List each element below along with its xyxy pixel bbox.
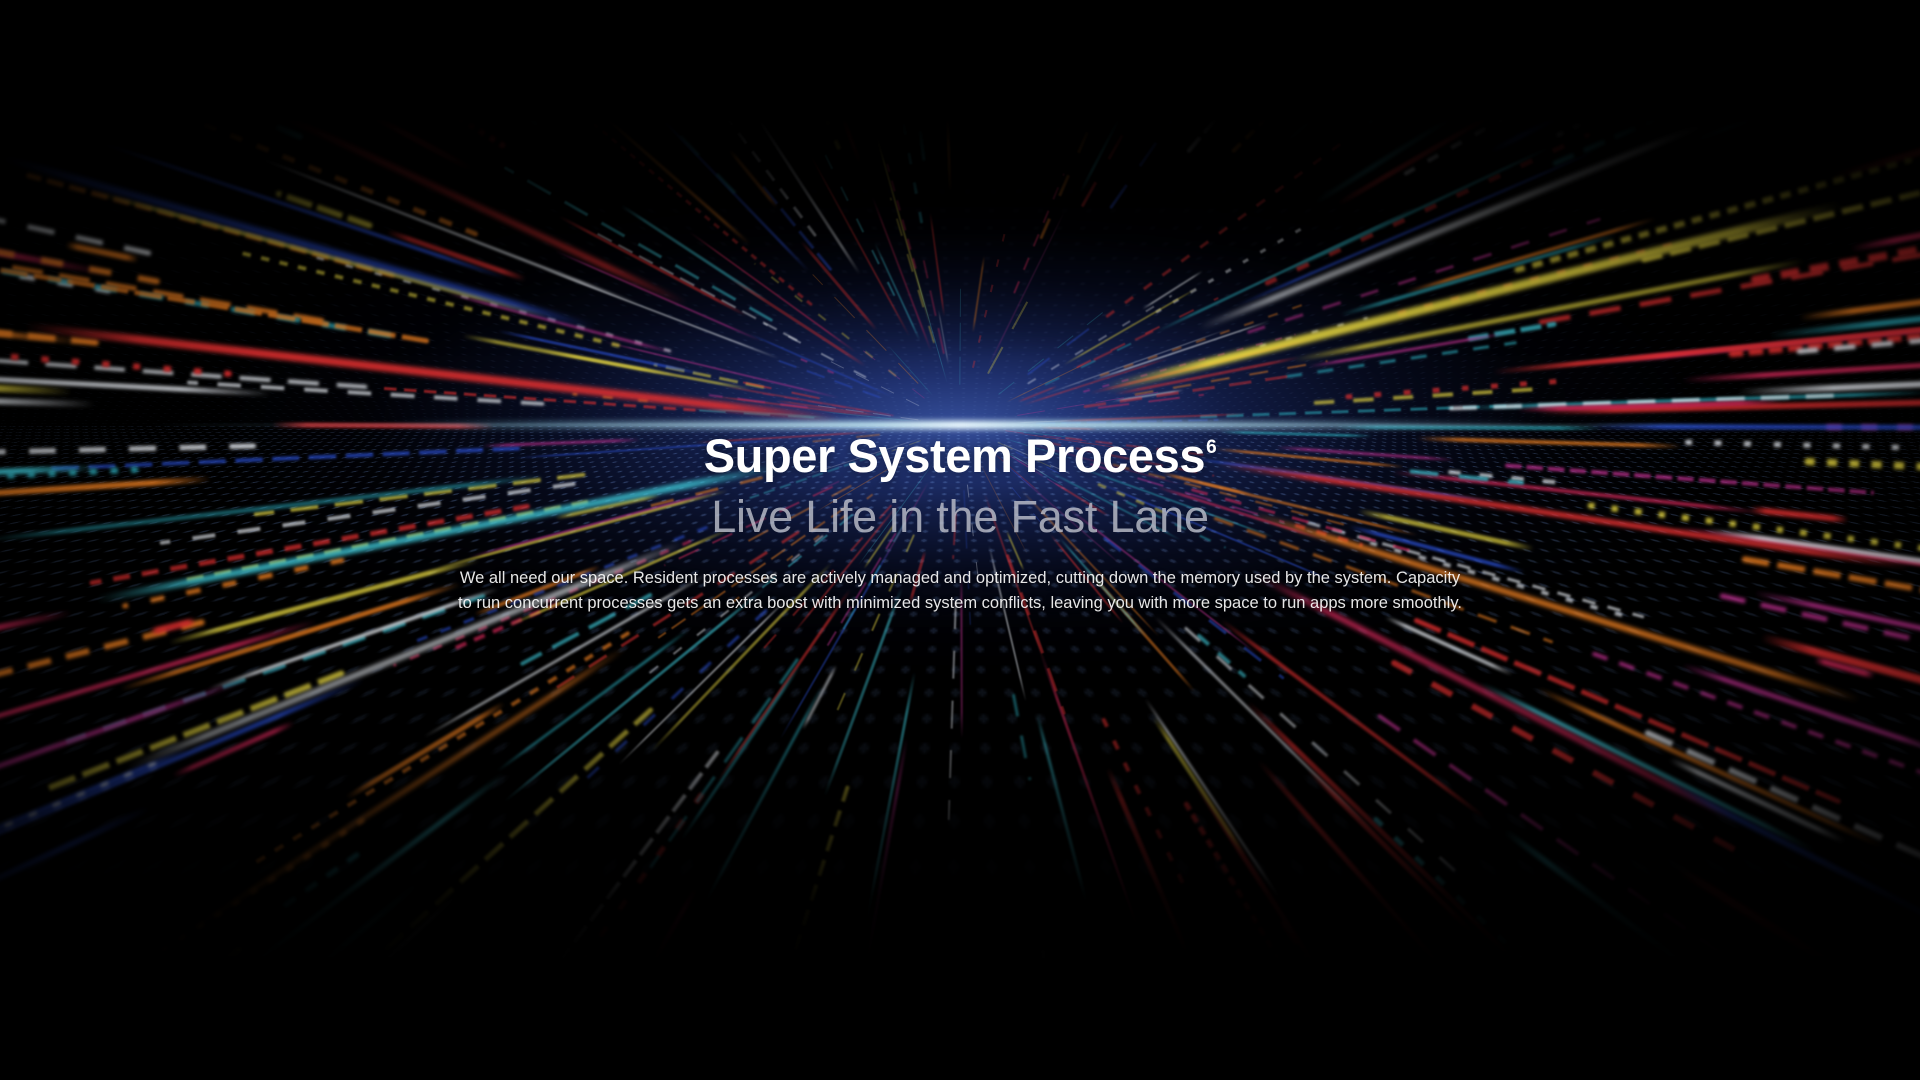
light-streak [1493,318,1920,375]
light-streak [0,619,317,777]
light-streak [1203,0,1400,126]
light-streak [987,294,1032,374]
light-streak [1013,173,1065,294]
light-streak [988,212,1065,366]
light-streak [1682,663,1920,754]
light-streak [1337,23,1646,206]
light-streak [1093,320,1174,361]
light-streak [1676,866,1920,1075]
light-streak [1079,56,1153,193]
light-streak [41,670,346,794]
light-streak [0,330,232,377]
light-streak [1064,287,1198,366]
light-streak [875,133,932,326]
light-streak [581,608,768,783]
light-streak [0,240,325,323]
light-streak [682,408,815,419]
light-streak [1537,687,1885,850]
light-streak [1040,654,1141,934]
light-streak [1236,149,1598,307]
light-streak [460,750,720,1080]
light-streak [776,400,881,417]
light-streak [763,322,867,378]
light-streak [748,103,861,274]
light-streak [1039,0,1150,239]
light-streak [0,0,273,32]
light-streak [1041,949,1124,1080]
light-streak [107,773,506,1075]
light-streak [1018,385,1057,402]
light-streak [1258,25,1331,103]
light-streak [739,785,850,1080]
light-streak [547,0,736,194]
light-streak [591,230,798,342]
hero-body-line-1: We all need our space. Resident processe… [460,569,1240,587]
light-streak [821,411,915,422]
light-streak [1340,233,1617,316]
light-streak [0,118,152,256]
light-streak [1682,346,1920,383]
light-streak [573,392,649,402]
light-streak [0,363,72,395]
light-streak [809,154,910,337]
light-streak [590,104,750,245]
light-streak [383,386,696,411]
light-streak [0,805,151,1039]
light-streak-primary [1293,258,1804,362]
light-streak [824,587,903,796]
light-streak [729,277,865,367]
hero-banner: Super System Process6 Live Life in the F… [0,0,1920,1080]
light-streak [1467,321,1557,341]
light-streak [1083,375,1287,408]
light-streak [0,280,84,345]
light-streak [708,408,828,419]
light-streak [609,0,817,237]
light-streak [1048,329,1226,394]
light-streak [593,123,813,307]
light-streak [613,887,699,1031]
light-streak [504,166,773,322]
light-streak [1367,0,1721,124]
light-streak [1760,634,1920,726]
light-streak [1397,242,1676,317]
light-streak [1390,659,1751,861]
halftone-dot-floor [0,0,1920,425]
light-streak [886,164,917,270]
light-streak [1831,0,1920,180]
light-streak [833,0,893,92]
light-streak [0,0,304,140]
light-streak [1403,0,1828,176]
light-streak-primary [0,153,595,331]
light-streak [792,355,834,374]
light-streak [1307,768,1478,938]
light-streak [1142,270,1203,310]
light-streak [377,0,547,67]
light-streak [1083,333,1296,392]
light-streak [1098,394,1204,409]
light-streak [1537,397,1920,414]
light-streak [1377,713,1748,972]
light-streak [929,212,945,317]
light-streak [1005,0,1029,45]
light-streak [702,685,824,908]
light-streak [1641,130,1920,263]
light-streak [1345,379,1561,400]
light-streak [1649,0,1920,21]
light-streak [874,243,920,341]
light-streak [1023,357,1168,405]
light-streak [1456,0,1654,92]
light-streak [555,250,760,341]
light-streak [959,288,961,385]
light-streak [1186,0,1333,153]
light-streak [275,851,361,913]
light-streak [913,266,947,382]
light-streak [261,157,641,306]
light-streak [1651,968,1914,1080]
light-streak [947,601,957,820]
light-streak [241,251,620,348]
light-streak [1264,132,1591,286]
light-streak [1038,423,1081,425]
light-streak [1535,0,1912,24]
light-streak [776,359,880,398]
light-streak [362,0,539,126]
light-streak [1012,694,1032,781]
light-streak [1106,767,1196,968]
light-streak [1081,0,1225,207]
light-streak [503,587,765,802]
light-streak [1728,297,1920,358]
light-streak [1678,0,1920,50]
light-streak [758,181,833,272]
light-streak [1109,92,1192,209]
light-streak [463,334,675,377]
light-streak [1552,0,1920,166]
light-streak [0,619,205,735]
light-streak [542,349,751,391]
light-streak [275,190,374,229]
light-streak [1658,776,1920,946]
light-streak [860,348,925,399]
hero-subheadline: Live Life in the Fast Lane [0,491,1920,542]
light-streak [1027,295,1172,385]
light-streak [879,0,925,161]
light-streak [0,817,366,1069]
light-streak [772,0,863,165]
light-streak [0,0,195,107]
light-streak [1598,1040,1920,1080]
light-streak [750,334,892,398]
light-streak [536,0,710,125]
light-streak [339,707,654,992]
light-streak [938,0,951,192]
light-streak [1616,0,1920,83]
light-streak [1488,51,1683,155]
light-streak [1231,0,1509,153]
light-streak [1017,392,1158,416]
light-streak [99,140,507,280]
light-streak [1183,801,1387,1080]
light-streak [386,229,525,281]
light-streak [871,197,931,351]
light-streak [448,293,675,355]
light-streak [1203,1017,1290,1080]
light-streak [762,393,893,416]
hero-body-line-3: leaving you with more space to run apps … [1050,594,1461,612]
light-streak [186,380,544,405]
light-streak [500,0,672,118]
hero-content: Super System Process6 Live Life in the F… [0,430,1920,616]
light-streak [711,395,872,417]
light-streak [1246,701,1538,983]
light-streak [1282,0,1550,146]
light-streak [1057,413,1245,422]
light-streak [0,296,99,346]
light-streak [1587,313,1920,366]
light-streak [1405,216,1656,294]
tunnel-core-glow [110,45,1810,805]
light-streak [680,664,802,841]
light-streak [1286,341,1516,378]
light-streak [0,761,158,1018]
light-streak [731,378,821,399]
light-streak [889,347,933,396]
light-streak [1799,272,1920,320]
light-streak [1184,626,1470,884]
light-streak [0,380,95,407]
light-streak [1308,332,1503,368]
light-streak [254,631,631,865]
light-streak [1105,140,1344,318]
light-streak [848,738,908,1062]
light-streak [1592,651,1920,808]
light-streak [0,202,111,293]
light-streak [1251,0,1372,37]
light-streak [1027,319,1101,375]
light-streak [0,256,429,343]
light-streak [1099,982,1233,1080]
light-streak [496,628,689,772]
light-streak [1006,361,1089,403]
light-streak [0,609,72,729]
light-streak [0,257,392,338]
light-streak [1143,0,1354,72]
light-streak [800,241,877,331]
light-streak [1044,338,1141,386]
light-streak [923,261,945,355]
light-streak [759,1074,807,1080]
light-streak [445,0,569,20]
light-streak [754,263,897,377]
bottom-light-band [0,952,1920,978]
light-streak [1314,387,1540,405]
light-streak [92,190,549,319]
light-streak [0,362,270,396]
light-streak [1192,780,1404,1080]
light-streak [66,242,139,263]
light-streak [1449,393,1843,411]
light-streak [649,105,810,272]
light-streak [0,678,246,880]
light-streak [1077,0,1168,70]
light-streak [0,880,421,1080]
light-streak-primary [188,645,627,932]
light-streak [1113,389,1184,402]
light-streak [1401,0,1585,19]
light-streak [1503,828,1781,1038]
light-streak [689,0,841,150]
light-streak [1200,404,1516,418]
light-streak [0,142,108,276]
light-streak [1101,717,1185,885]
light-streak [1052,0,1173,144]
light-streak [172,720,295,778]
light-streak [1400,1059,1466,1080]
light-streak [1114,356,1299,396]
light-streak [954,0,959,141]
light-streak [316,0,371,20]
light-streak [1157,206,1418,332]
light-streak [826,359,919,406]
light-streak [1247,217,1601,333]
light-streak [1514,156,1914,272]
light-streak [1432,1019,1678,1080]
light-streak [649,658,799,869]
light-streak [1017,420,1072,423]
hero-headline: Super System Process6 [0,430,1920,483]
light-streak [1814,657,1876,679]
light-streak [950,0,956,83]
light-streak [1280,920,1539,1080]
light-streak-primary [1103,201,1843,394]
hero-headline-footnote-marker: 6 [1206,437,1216,458]
light-streak [1035,713,1088,905]
light-streak [1850,193,1920,253]
light-streak [1644,729,1920,977]
light-streak [708,394,808,408]
light-streak [1099,302,1309,377]
light-streak [938,310,949,364]
light-streak [1302,9,1392,96]
light-streak [689,231,856,352]
light-streak [272,423,494,429]
light-streak [725,386,895,417]
light-streak [1372,816,1543,979]
light-streak [1075,0,1187,36]
light-streak [0,746,191,874]
light-streak [1259,317,1368,348]
light-streak [26,173,396,278]
light-streak [972,256,985,332]
light-streak [1076,297,1218,369]
light-streak [1197,633,1247,678]
light-streak [282,5,507,149]
light-streak-primary [106,31,689,307]
light-streak [5,0,474,172]
light-streak [1155,222,1311,313]
light-streak [1462,391,1920,411]
light-streak [1538,227,1920,325]
light-streak [1154,616,1375,835]
light-streak [1281,145,1553,275]
light-streak [1692,17,1920,144]
light-streak [1669,757,1847,844]
light-streak [1152,716,1246,856]
light-streak [802,665,838,730]
light-streak [149,617,196,635]
light-streak [1413,617,1841,804]
light-streak [50,985,423,1080]
light-streak [865,672,916,921]
light-streak-primary [1314,0,1723,204]
light-streak [1220,619,1486,819]
light-streak-primary [25,323,841,424]
light-streak [1751,164,1920,284]
light-streak [1036,419,1219,424]
light-streak [823,151,896,296]
light-streak [972,226,1007,368]
light-streak [558,215,747,317]
horizon-glow-wide [135,424,1785,427]
light-streak [0,168,160,285]
hero-body-copy: We all need our space. Resident processe… [455,566,1465,616]
light-streak [36,889,463,1080]
light-streak [345,702,505,801]
light-streak [604,341,839,399]
light-streak [1769,260,1920,338]
light-streak [1638,5,1822,98]
light-streak [0,347,367,389]
light-streak [810,404,918,420]
light-streak [0,945,244,1080]
light-streak [728,148,778,208]
light-streak [315,256,671,353]
light-streak-primary [1199,115,1720,330]
light-streak [1556,0,1919,138]
light-streak [78,72,478,237]
light-streak [1257,759,1576,1080]
light-streak [1738,364,1920,395]
light-streak [1479,682,1817,854]
light-streak [717,589,851,782]
light-streak [1385,615,1513,676]
light-streak [557,792,704,995]
light-streak [498,330,702,376]
light-streak [1144,698,1283,902]
light-streak [1090,336,1316,394]
light-streak [813,274,919,384]
light-streak [1321,1027,1419,1080]
light-streak [653,363,764,389]
light-streak [1092,320,1270,382]
light-streak [543,268,779,360]
hero-headline-text: Super System Process [704,429,1205,482]
light-streak [0,678,365,903]
light-streak [1518,400,1782,412]
light-streak [872,0,923,224]
light-streak [618,596,789,765]
light-streak [1134,360,1328,396]
light-streak [889,197,935,343]
light-streak [998,307,1109,395]
light-streak [620,204,768,303]
light-streak [1796,318,1920,354]
